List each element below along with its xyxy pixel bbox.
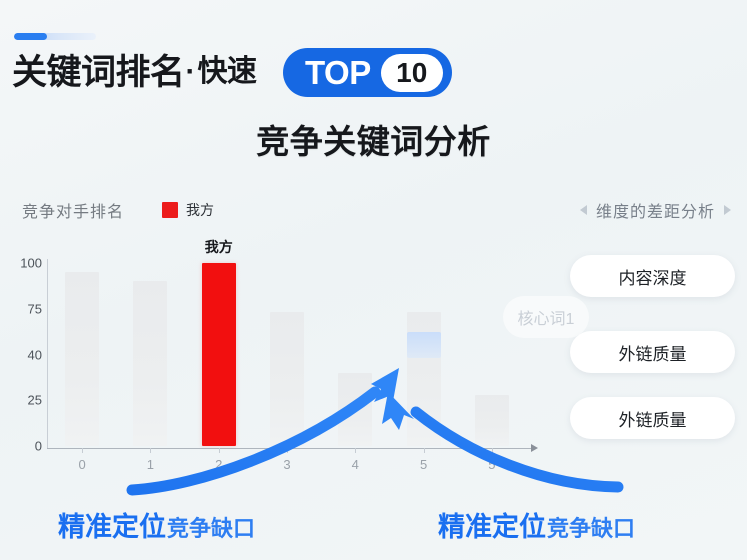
x-axis-tick-mark: [150, 448, 151, 453]
x-axis-tick-mark: [219, 448, 220, 453]
caption-left: 精准定位 竞争缺口: [58, 505, 255, 544]
ghost-pill-core-keyword: 核心词1: [503, 296, 589, 338]
title-fast-label: 快速: [198, 57, 257, 87]
x-axis-tick-label: 5: [488, 457, 495, 472]
gap-highlight-marker: [407, 332, 441, 358]
y-axis-tick-label: 40: [2, 347, 42, 362]
caption-right-weak: 竞争缺口: [547, 511, 635, 543]
x-axis-tick-label: 3: [283, 457, 290, 472]
chevron-left-icon: [580, 205, 587, 215]
page-title: 关键词排名: [12, 55, 185, 90]
top-badge-label: TOP: [305, 56, 371, 89]
bar-competitor: [475, 395, 509, 446]
x-axis-tick-label: 0: [79, 457, 86, 472]
caption-right-strong: 精准定位: [438, 505, 546, 544]
y-axis-tick-label: 75: [2, 301, 42, 316]
chart-legend: 竞争对手排名 我方: [22, 198, 214, 222]
bar-competitor: [133, 281, 167, 446]
y-axis-tick-label: 100: [2, 256, 42, 271]
dimension-pill[interactable]: 外链质量: [570, 331, 735, 373]
caption-left-weak: 竞争缺口: [167, 511, 255, 543]
chevron-right-icon: [724, 205, 731, 215]
legend-swatch-icon: [162, 202, 178, 218]
dimension-pill[interactable]: 外链质量: [570, 397, 735, 439]
x-axis-tick-label: 5: [420, 457, 427, 472]
x-axis-tick-label: 2: [215, 457, 222, 472]
x-axis-tick-mark: [355, 448, 356, 453]
y-axis-ticks: 1007540250: [0, 245, 42, 475]
dimension-panel-header: 维度的差距分析: [580, 198, 731, 222]
plot-area: 我方: [48, 263, 526, 446]
progress-bar: [14, 33, 96, 40]
bar-label-mine: 我方: [205, 237, 233, 257]
caption-right: 精准定位 竞争缺口: [438, 505, 635, 544]
page-header: 关键词排名 · 快速: [12, 46, 257, 98]
top-badge: TOP 10: [283, 48, 452, 97]
bar-competitor: [270, 312, 304, 446]
x-axis-arrow-icon: [531, 444, 538, 452]
x-axis-tick-label: 1: [147, 457, 154, 472]
top-badge-value: 10: [381, 54, 443, 92]
x-axis-tick-mark: [82, 448, 83, 453]
caption-left-strong: 精准定位: [58, 505, 166, 544]
legend-item-label: 我方: [186, 200, 214, 220]
progress-bar-fill: [14, 33, 47, 40]
bar-competitor: [338, 373, 372, 446]
page-subtitle: 竞争关键词分析: [0, 115, 747, 163]
x-axis-tick-label: 4: [352, 457, 359, 472]
bar-mine: [202, 263, 236, 446]
bar-chart: 1007540250 我方 0123455: [0, 245, 560, 475]
y-axis-tick-label: 0: [2, 439, 42, 454]
dimension-pill[interactable]: 内容深度: [570, 255, 735, 297]
x-axis-tick-mark: [287, 448, 288, 453]
chart-legend-title: 竞争对手排名: [22, 198, 124, 222]
dimension-panel-title: 维度的差距分析: [596, 198, 715, 222]
title-separator: ·: [185, 55, 197, 89]
x-axis-tick-mark: [424, 448, 425, 453]
x-axis-line: [47, 448, 534, 449]
bar-competitor: [65, 272, 99, 446]
legend-item-mine: 我方: [162, 200, 214, 220]
y-axis-tick-label: 25: [2, 393, 42, 408]
x-axis-tick-mark: [492, 448, 493, 453]
